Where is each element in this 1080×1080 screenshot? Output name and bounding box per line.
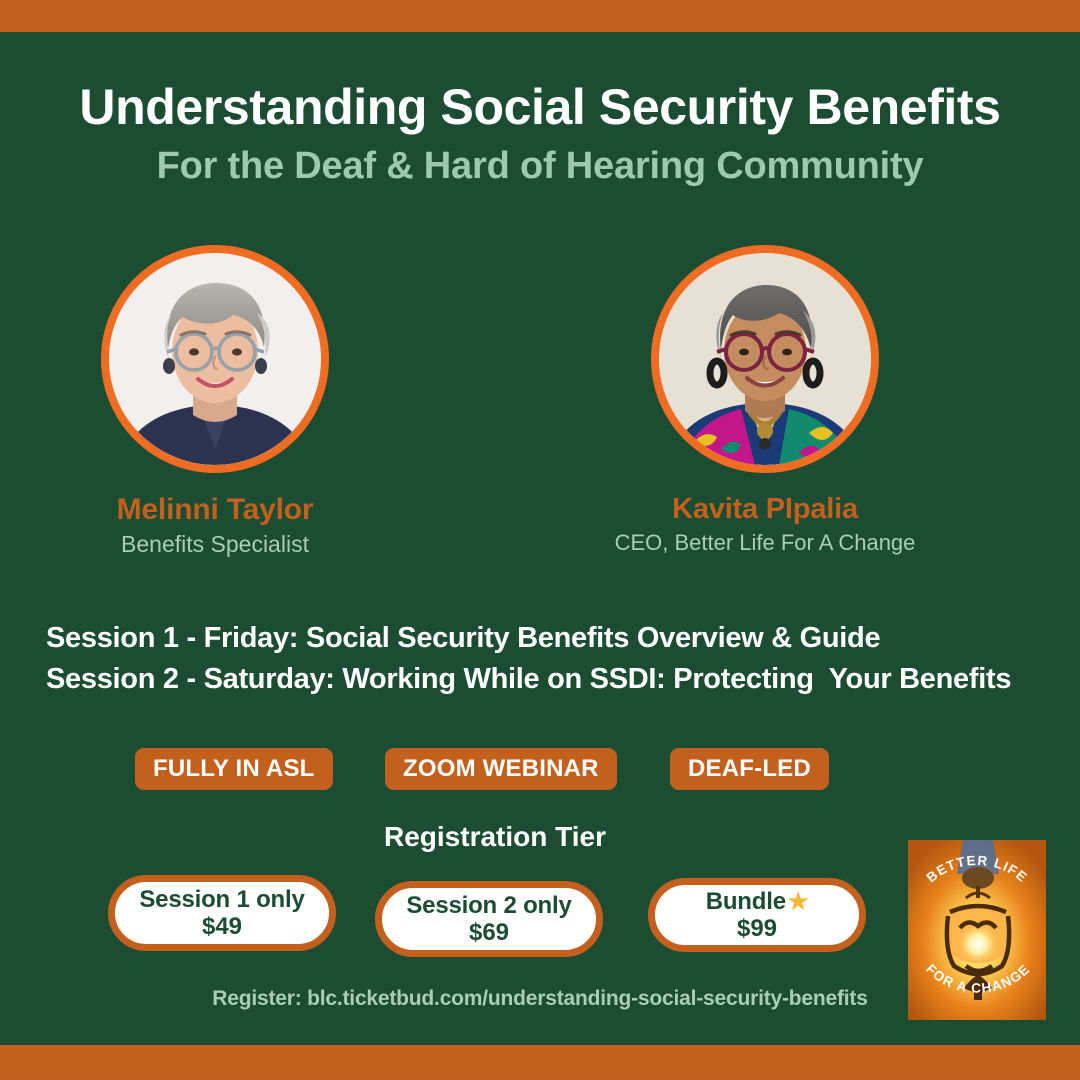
tier-card-session-1[interactable]: Session 1 only $49 [108,875,336,951]
portrait-kavita-pipalia [659,253,871,465]
avatar [651,245,879,473]
portrait-melinni-taylor [109,253,321,465]
tier-label-text: Session 2 only [406,892,571,919]
speaker-card-1: Melinni Taylor Benefits Specialist [5,245,425,558]
speaker-name: Melinni Taylor [5,493,425,527]
bottom-accent-bar [0,1045,1080,1080]
event-poster: Understanding Social Security Benefits F… [0,0,1080,1080]
session-line: Session 1 - Friday: Social Security Bene… [46,618,1046,659]
page-title: Understanding Social Security Benefits [0,78,1080,136]
tier-card-bundle[interactable]: Bundle ★ $99 [648,878,866,952]
tier-label-text: Session 1 only [139,886,304,913]
registration-tier-heading: Registration Tier [0,821,990,853]
speaker-name: Kavita PIpalia [555,493,975,526]
tier-label: Session 1 only [139,886,304,913]
session-line: Session 2 - Saturday: Working While on S… [46,659,1046,700]
tier-card-session-2[interactable]: Session 2 only $69 [375,881,603,957]
speaker-card-2: Kavita PIpalia CEO, Better Life For A Ch… [555,245,975,556]
session-list: Session 1 - Friday: Social Security Bene… [46,618,1046,700]
star-icon: ★ [788,890,808,913]
badge-fully-in-asl: FULLY IN ASL [135,748,333,790]
tier-price: $69 [469,919,509,946]
badge-deaf-led: DEAF-LED [670,748,829,790]
logo-top-text: BETTER LIFE [924,853,1031,885]
badge-zoom-webinar: ZOOM WEBINAR [385,748,617,790]
tier-price: $99 [737,915,777,942]
logo-bottom-text: FOR A CHANGE [923,961,1033,995]
tier-label: Session 2 only [406,892,571,919]
avatar [101,245,329,473]
tier-price: $49 [202,913,242,940]
tier-label-text: Bundle [706,888,786,915]
speaker-role: CEO, Better Life For A Change [555,530,975,556]
speaker-role: Benefits Specialist [5,531,425,558]
feature-badges: FULLY IN ASL ZOOM WEBINAR DEAF-LED [0,748,1080,790]
page-subtitle: For the Deaf & Hard of Hearing Community [0,145,1080,188]
top-accent-bar [0,0,1080,32]
brand-logo: BETTER LIFE FOR A CHANGE [908,840,1046,1020]
tier-label: Bundle ★ [706,888,809,915]
